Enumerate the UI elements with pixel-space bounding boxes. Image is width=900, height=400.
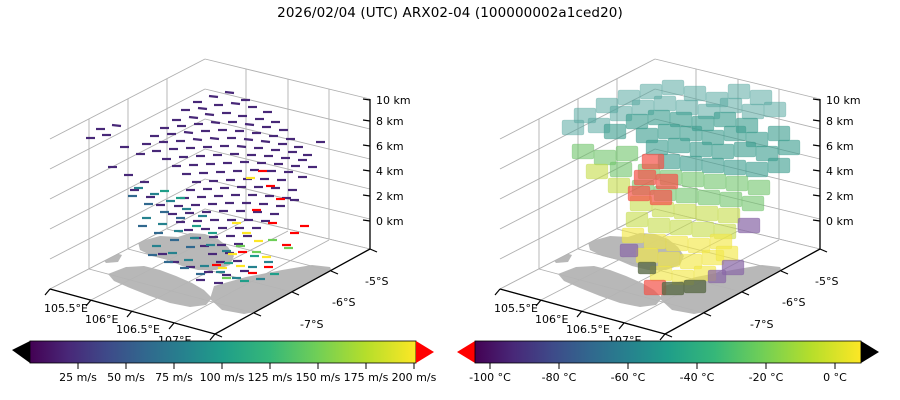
panel-temperature-voxels[interactable]: 105.5°E 106°E 106.5°E 107°E 107.5°E -8°S… [450, 34, 900, 334]
z-tick-label: 8 km [376, 115, 404, 128]
colorbar-tick-label: 25 m/s [59, 371, 97, 384]
z-tick-label: 8 km [826, 115, 854, 128]
colorbar-tick-label: -80 °C [542, 371, 577, 384]
x-tick-label: 106°E [535, 313, 568, 326]
colorbar-tick-label: 125 m/s [248, 371, 293, 384]
x-tick-label: 105.5°E [494, 302, 538, 315]
colorbar-gradient[interactable] [475, 341, 861, 363]
y-tick-label: -7°S [750, 318, 773, 331]
colorbar-ticks [78, 363, 414, 369]
colorbar-extend-high [416, 341, 434, 363]
z-tick-label: 4 km [826, 165, 854, 178]
colorbar-tick-label: 150 m/s [296, 371, 341, 384]
y-tick-label: -7°S [300, 318, 323, 331]
colorbar-extend-high [861, 341, 879, 363]
colorbar-ticks [490, 363, 835, 369]
colorbar-speed[interactable]: 25 m/s 50 m/s 75 m/s 100 m/s 125 m/s 150… [0, 338, 450, 394]
axes3d-wind[interactable]: 105.5°E 106°E 106.5°E 107°E 107.5°E -8°S… [0, 34, 450, 334]
colorbar-tick-label: 175 m/s [344, 371, 389, 384]
z-tick-label: 6 km [376, 140, 404, 153]
x-tick-label: 105.5°E [44, 302, 88, 315]
colorbar-extend-low [457, 341, 475, 363]
z-tick-label: 0 km [826, 215, 854, 228]
colorbar-tick-label: -20 °C [749, 371, 784, 384]
y-tick-label: -6°S [782, 296, 805, 309]
colorbar-tick-label: 0 °C [823, 371, 847, 384]
z-tick-label: 2 km [826, 190, 854, 203]
x-tick-label: 106.5°E [566, 323, 610, 336]
colorbar-tick-label: -60 °C [611, 371, 646, 384]
z-tick-label: 10 km [376, 94, 411, 107]
colorbar-temperature[interactable]: -100 °C -80 °C -60 °C -40 °C -20 °C 0 °C [450, 338, 900, 394]
colorbar-tick-label: 200 m/s [392, 371, 437, 384]
x-tick-label: 106°E [85, 313, 118, 326]
z-tick-label: 6 km [826, 140, 854, 153]
z-tick-label: 10 km [826, 94, 861, 107]
x-tick-label: 106.5°E [116, 323, 160, 336]
y-tick-label: -5°S [815, 275, 838, 288]
panel-wind-speed-quiver[interactable]: 105.5°E 106°E 106.5°E 107°E 107.5°E -8°S… [0, 34, 450, 334]
colorbar-tick-label: 75 m/s [155, 371, 193, 384]
z-tick-label: 0 km [376, 215, 404, 228]
colorbar-extend-low [12, 341, 30, 363]
z-tick-label: 4 km [376, 165, 404, 178]
colorbar-tick-label: -40 °C [680, 371, 715, 384]
colorbar-tick-label: 100 m/s [200, 371, 245, 384]
y-tick-label: -6°S [332, 296, 355, 309]
axes3d-temperature[interactable]: 105.5°E 106°E 106.5°E 107°E 107.5°E -8°S… [450, 34, 900, 334]
y-tick-label: -5°S [365, 275, 388, 288]
figure-title: 2026/02/04 (UTC) ARX02-04 (100000002a1ce… [0, 5, 900, 21]
figure-canvas: 2026/02/04 (UTC) ARX02-04 (100000002a1ce… [0, 0, 900, 400]
colorbar-tick-label: 50 m/s [107, 371, 145, 384]
z-tick-label: 2 km [376, 190, 404, 203]
colorbar-gradient[interactable] [30, 341, 416, 363]
colorbar-tick-label: -100 °C [469, 371, 511, 384]
